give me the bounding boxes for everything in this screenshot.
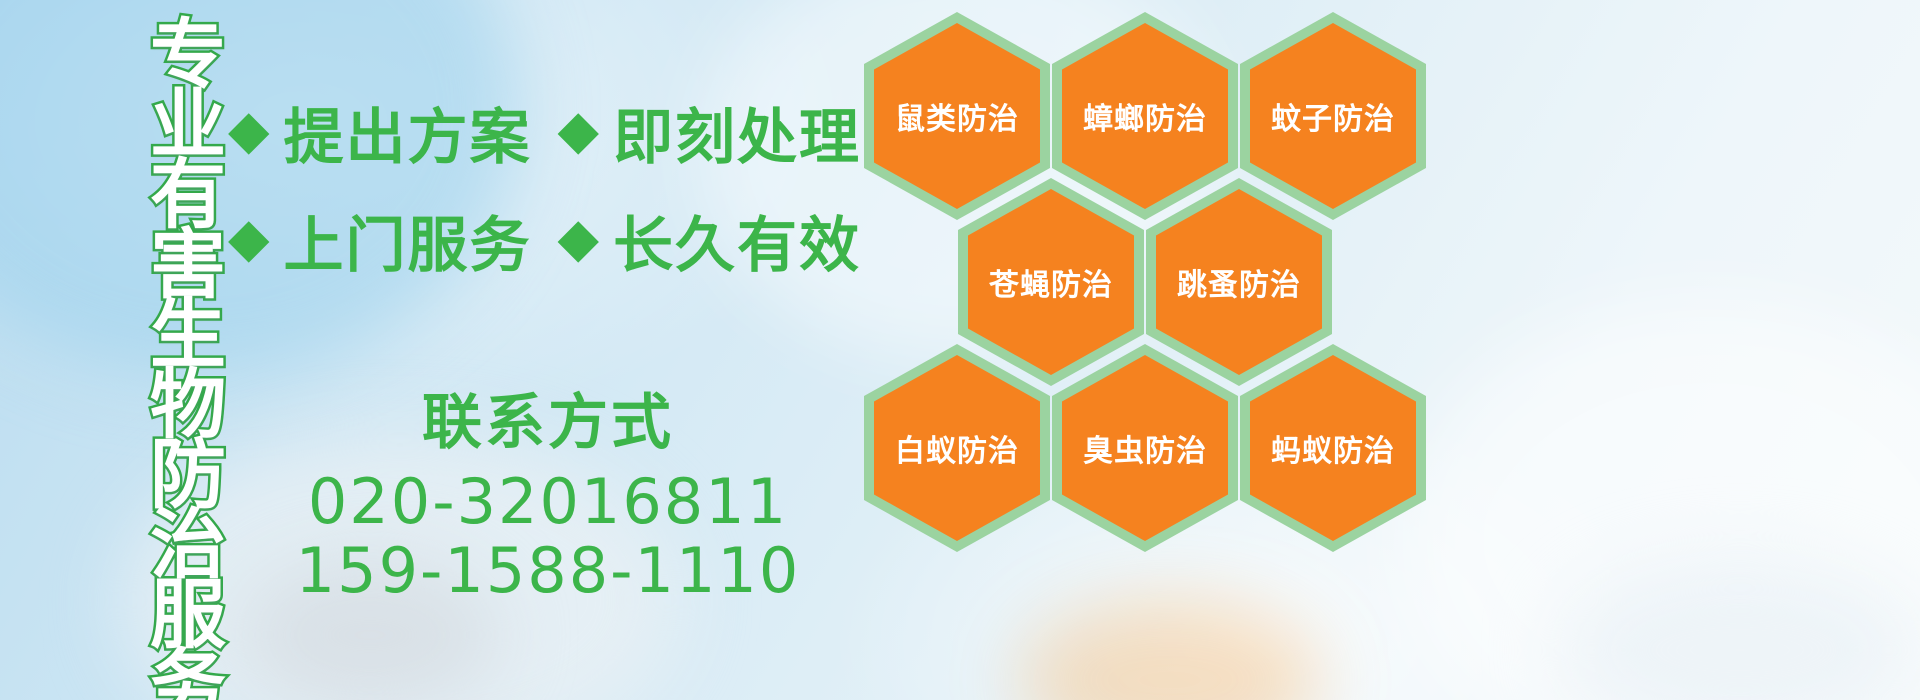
feature-item: ◆ 上门服务 (228, 197, 532, 284)
service-label: 蟑螂防治 (1083, 94, 1207, 138)
contact-phone-mobile[interactable]: 159-1588-1110 (228, 536, 868, 605)
diamond-bullet-icon: ◆ (228, 103, 270, 157)
service-hexagon-fly[interactable]: 苍蝇防治 (958, 178, 1144, 386)
background-blob (1400, 300, 1920, 700)
promo-banner: 专业有害生物防治服务 ◆ 提出方案 ◆ 即刻处理 ◆ 上门服务 ◆ 长久有效 (0, 0, 1920, 700)
feature-item: ◆ 长久有效 (558, 197, 862, 284)
hexagon-inner: 白蚁防治 (874, 355, 1040, 541)
service-hexagon-ant[interactable]: 蚂蚁防治 (1240, 344, 1426, 552)
service-label: 蚊子防治 (1271, 94, 1395, 138)
hexagon-inner: 苍蝇防治 (968, 189, 1134, 375)
hexagon-inner: 臭虫防治 (1062, 355, 1228, 541)
hexagon-inner: 蚊子防治 (1250, 23, 1416, 209)
hexagon-inner: 跳蚤防治 (1156, 189, 1322, 375)
service-label: 鼠类防治 (895, 94, 1019, 138)
service-hexagon-grid: 鼠类防治 蟑螂防治 蚊子防治 苍蝇防治 跳蚤防治 白蚁防治 (860, 0, 1460, 700)
vertical-headline: 专业有害生物防治服务 (108, 14, 216, 554)
diamond-bullet-icon: ◆ (228, 211, 270, 265)
contact-block: 联系方式 020-32016811 159-1588-1110 (228, 392, 868, 606)
hexagon-inner: 鼠类防治 (874, 23, 1040, 209)
service-label: 白蚁防治 (895, 426, 1019, 470)
diamond-bullet-icon: ◆ (558, 103, 600, 157)
background-blob (1560, 560, 1920, 700)
service-hexagon-mosquito[interactable]: 蚊子防治 (1240, 12, 1426, 220)
feature-label: 上门服务 (284, 197, 532, 284)
feature-label: 长久有效 (613, 197, 861, 284)
feature-row: ◆ 提出方案 ◆ 即刻处理 (228, 78, 868, 186)
contact-phone-landline[interactable]: 020-32016811 (228, 467, 868, 536)
service-label: 臭虫防治 (1083, 426, 1207, 470)
service-label: 苍蝇防治 (989, 260, 1113, 304)
service-hexagon-bedbug[interactable]: 臭虫防治 (1052, 344, 1238, 552)
feature-list: ◆ 提出方案 ◆ 即刻处理 ◆ 上门服务 ◆ 长久有效 (228, 78, 868, 294)
feature-label: 即刻处理 (613, 89, 861, 176)
feature-item: ◆ 提出方案 (228, 89, 532, 176)
contact-title: 联系方式 (228, 392, 868, 455)
feature-row: ◆ 上门服务 ◆ 长久有效 (228, 186, 868, 294)
feature-item: ◆ 即刻处理 (558, 89, 862, 176)
hexagon-inner: 蟑螂防治 (1062, 23, 1228, 209)
feature-label: 提出方案 (284, 89, 532, 176)
service-hexagon-termite[interactable]: 白蚁防治 (864, 344, 1050, 552)
service-hexagon-rodent[interactable]: 鼠类防治 (864, 12, 1050, 220)
diamond-bullet-icon: ◆ (558, 211, 600, 265)
service-hexagon-flea[interactable]: 跳蚤防治 (1146, 178, 1332, 386)
service-label: 蚂蚁防治 (1271, 426, 1395, 470)
service-hexagon-cockroach[interactable]: 蟑螂防治 (1052, 12, 1238, 220)
service-label: 跳蚤防治 (1177, 260, 1301, 304)
hexagon-inner: 蚂蚁防治 (1250, 355, 1416, 541)
